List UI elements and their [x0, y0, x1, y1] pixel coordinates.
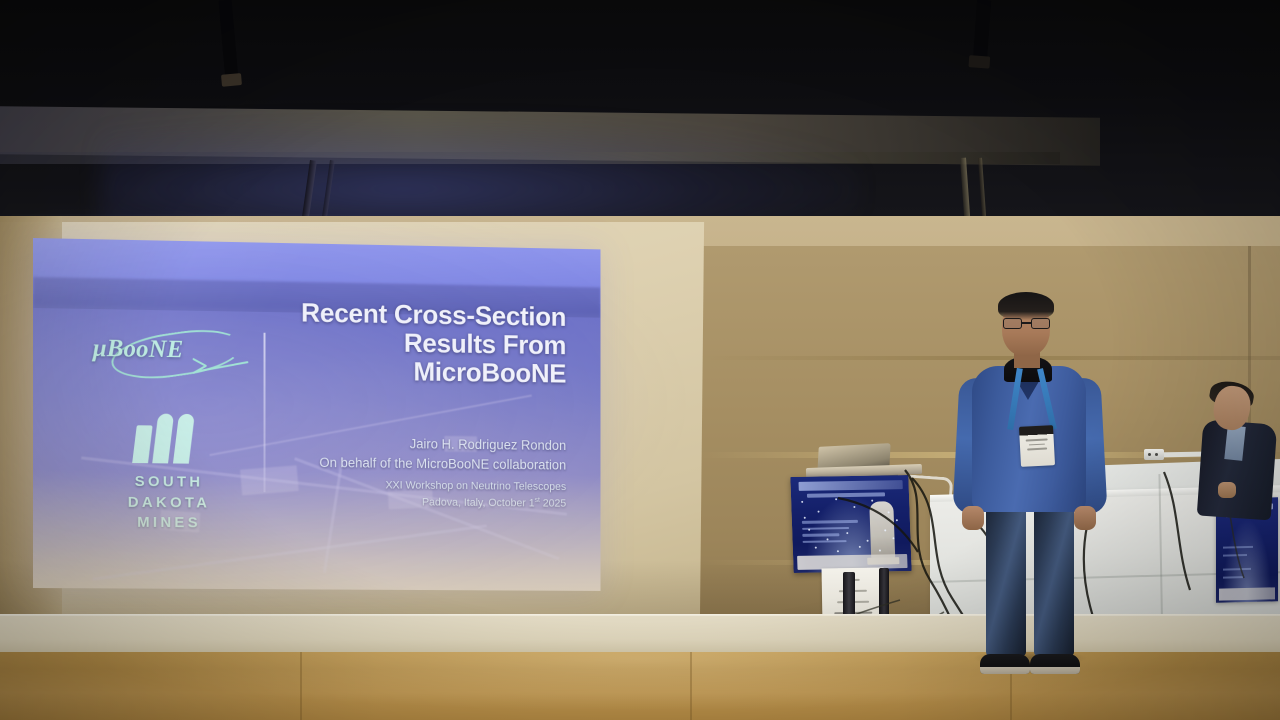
poster-header-band: [798, 480, 902, 491]
speaker-presenter: [950, 292, 1110, 692]
slide-byline: Jairo H. Rodriguez Rondon On behalf of t…: [237, 432, 566, 475]
speaker-legs: [986, 504, 1074, 660]
poster-subtitle-band: [807, 492, 885, 497]
speaker-hair: [998, 292, 1054, 320]
speaker-glasses-icon: [1003, 318, 1050, 330]
microphone-head-icon: [1144, 449, 1164, 460]
floor-plank-seam: [690, 652, 692, 720]
speaker-conference-badge: [1019, 425, 1055, 467]
speaker-hand-left: [962, 506, 984, 530]
slide-title: Recent Cross-Section Results From MicroB…: [247, 298, 566, 389]
conference-photo-scene: μBooNE SOUTH DAKOTA MINES Recent Cross-S…: [0, 0, 1280, 720]
speaker-hand-right: [1074, 506, 1096, 530]
speaker-leg-left: [986, 504, 1026, 656]
conference-poster-lectern: [790, 475, 911, 573]
projected-slide: μBooNE SOUTH DAKOTA MINES Recent Cross-S…: [33, 238, 600, 591]
projection-screen: μBooNE SOUTH DAKOTA MINES Recent Cross-S…: [33, 238, 600, 591]
person-at-counter: [1196, 382, 1280, 512]
ceiling: [0, 0, 1280, 232]
screen-ambient-washout: [33, 469, 600, 591]
ceiling-light-fixture-left: [219, 0, 239, 80]
uboone-arrow-icon: [188, 356, 249, 375]
uboone-logo: μBooNE: [93, 333, 251, 381]
poster-text-lines: [802, 520, 859, 547]
floor-plank-seam: [300, 652, 302, 720]
speaker-shoe-left: [980, 654, 1030, 674]
poster-statue-image: [869, 501, 895, 559]
person2-hand: [1218, 482, 1236, 498]
person2-shirt: [1224, 425, 1245, 461]
sdmines-m-mark-icon: [133, 411, 206, 464]
ceiling-light-fixture-right: [973, 0, 991, 62]
slide-title-line-3: MicroBooNE: [247, 356, 566, 389]
speaker-shoe-right: [1030, 654, 1080, 674]
uboone-logo-text: μBooNE: [93, 335, 184, 364]
speaker-leg-right: [1034, 504, 1074, 656]
